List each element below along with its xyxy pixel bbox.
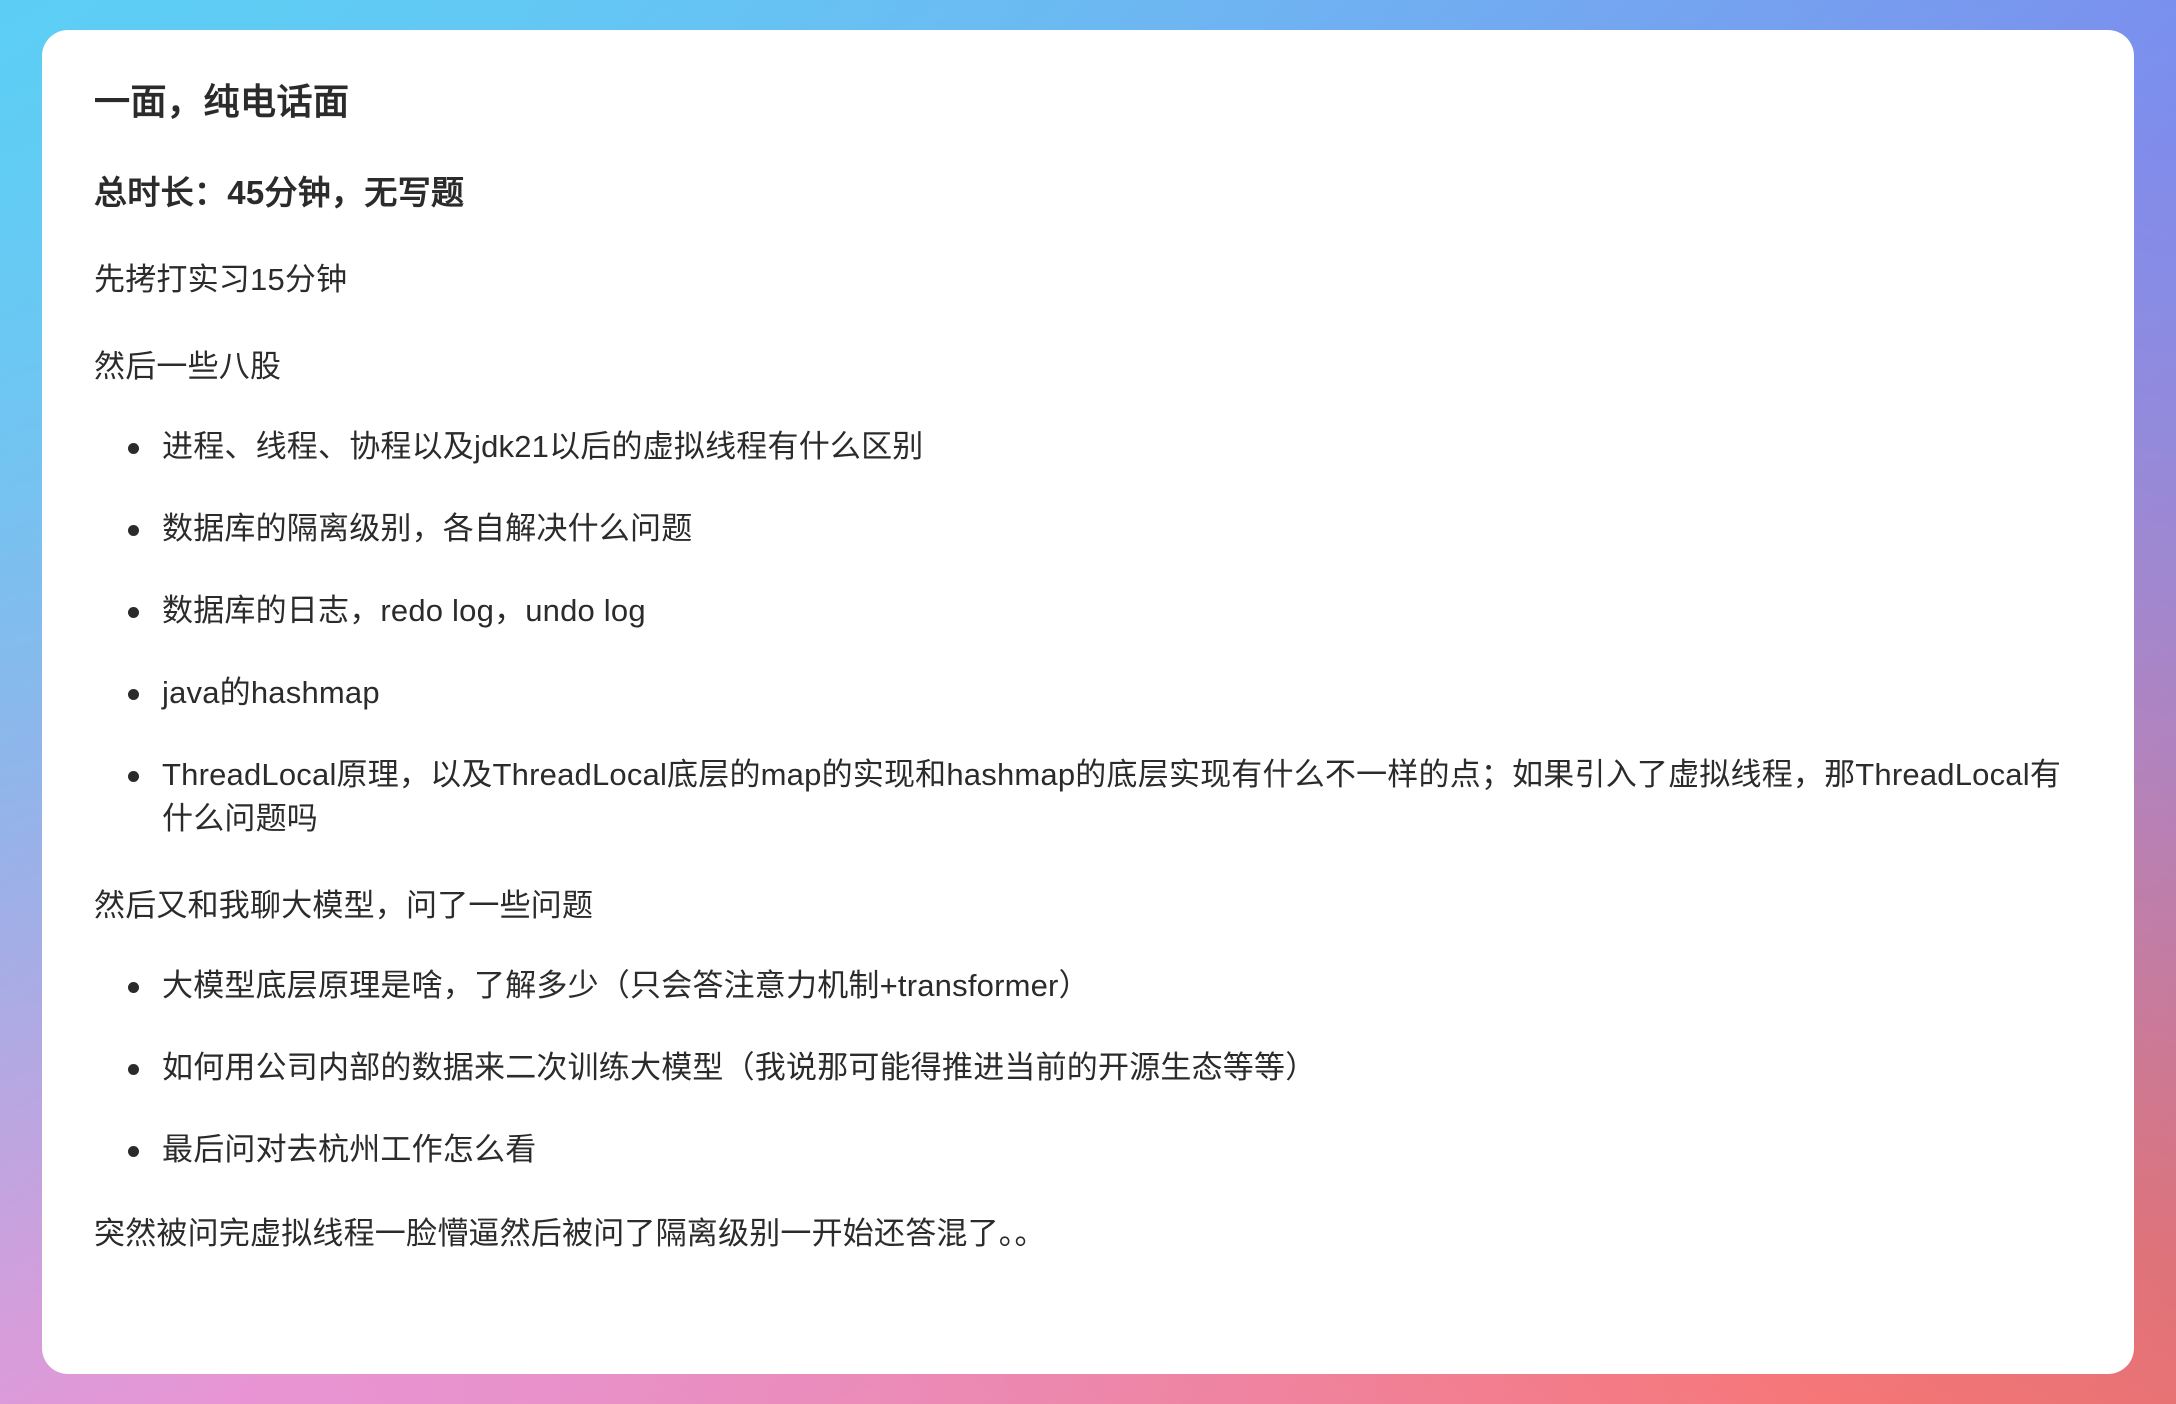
list-item: 大模型底层原理是啥，了解多少（只会答注意力机制+transformer） — [94, 964, 2082, 1008]
list-item: 数据库的隔离级别，各自解决什么问题 — [94, 507, 2082, 551]
closing-line: 突然被问完虚拟线程一脸懵逼然后被问了隔离级别一开始还答混了。。 — [94, 1212, 2082, 1255]
list-item: 进程、线程、协程以及jdk21以后的虚拟线程有什么区别 — [94, 425, 2082, 469]
list-item: 如何用公司内部的数据来二次训练大模型（我说那可能得推进当前的开源生态等等） — [94, 1046, 2082, 1090]
section-one-heading: 然后一些八股 — [94, 346, 2082, 389]
note-card: 一面，纯电话面 总时长：45分钟，无写题 先拷打实习15分钟 然后一些八股 进程… — [42, 30, 2134, 1374]
list-item: ThreadLocal原理，以及ThreadLocal底层的map的实现和has… — [94, 753, 2082, 841]
list-item: java的hashmap — [94, 671, 2082, 715]
list-item: 最后问对去杭州工作怎么看 — [94, 1128, 2082, 1172]
section-one-list: 进程、线程、协程以及jdk21以后的虚拟线程有什么区别 数据库的隔离级别，各自解… — [94, 425, 2082, 841]
note-document: 一面，纯电话面 总时长：45分钟，无写题 先拷打实习15分钟 然后一些八股 进程… — [94, 78, 2082, 1255]
intro-line: 先拷打实习15分钟 — [94, 259, 2082, 302]
section-two-list: 大模型底层原理是啥，了解多少（只会答注意力机制+transformer） 如何用… — [94, 964, 2082, 1172]
duration-line: 总时长：45分钟，无写题 — [94, 171, 2082, 216]
section-two-heading: 然后又和我聊大模型，问了一些问题 — [94, 885, 2082, 928]
list-item: 数据库的日志，redo log，undo log — [94, 589, 2082, 633]
page-title: 一面，纯电话面 — [94, 78, 2082, 127]
